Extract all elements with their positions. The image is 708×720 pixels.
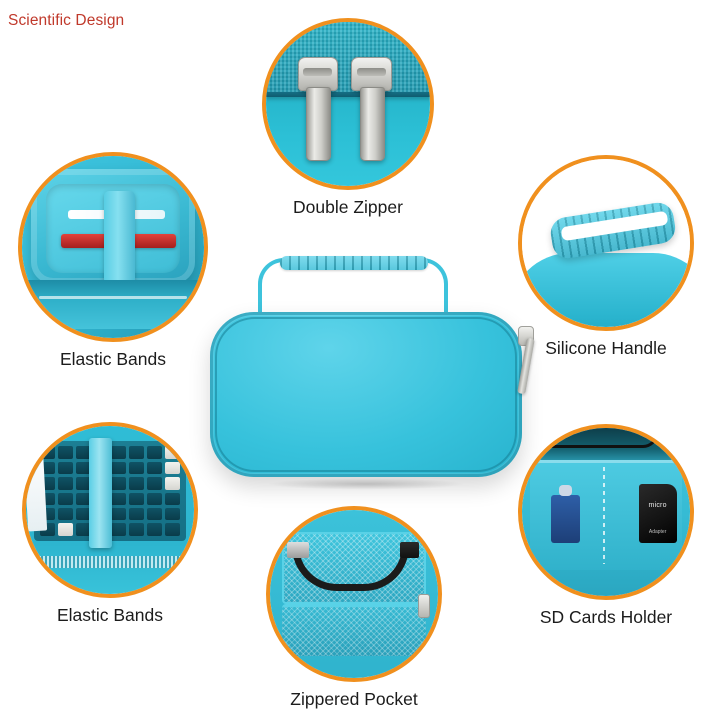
feature-elastic-bands-bottom: Elastic Bands: [22, 422, 198, 626]
feature-circle-silicone-handle: [518, 155, 694, 331]
sd-card-brand: micro: [639, 502, 677, 509]
silicone-handle-grip: [280, 256, 428, 270]
feature-circle-double-zipper: [262, 18, 434, 190]
feature-label-silicone-handle: Silicone Handle: [518, 338, 694, 359]
case-body: [210, 312, 522, 477]
feature-label-sd-cards-holder: SD Cards Holder: [518, 607, 694, 628]
feature-label-elastic-bands-bottom: Elastic Bands: [22, 605, 198, 626]
photo-pencils-in-lid: [20, 154, 206, 340]
feature-double-zipper: Double Zipper: [262, 18, 434, 218]
feature-circle-elastic-bands-top: [18, 152, 208, 342]
photo-silicone-handle: [520, 157, 692, 329]
photo-mesh-pocket-with-usb-cable: [268, 508, 440, 680]
photo-usb-c-adapter-and-microsd-card: micro Adapter: [520, 426, 692, 598]
feature-label-elastic-bands-top: Elastic Bands: [18, 349, 208, 370]
usb-c-adapter-icon: [551, 495, 580, 543]
page-title: Scientific Design: [8, 12, 124, 30]
feature-sd-cards-holder: micro Adapter SD Cards Holder: [518, 424, 694, 628]
photo-calculator-with-strap: [24, 424, 196, 596]
feature-circle-zippered-pocket: [266, 506, 442, 682]
photo-double-zipper: [264, 20, 432, 188]
feature-elastic-bands-top: Elastic Bands: [18, 152, 208, 370]
infographic-page: Scientific Design Elastic Bands: [0, 0, 708, 720]
hero-product-image: [196, 252, 536, 502]
sd-card-sub: Adapter: [639, 529, 677, 535]
feature-label-zippered-pocket: Zippered Pocket: [266, 689, 442, 710]
product-shadow: [230, 476, 502, 492]
feature-zippered-pocket: Zippered Pocket: [266, 506, 442, 710]
feature-circle-elastic-bands-bottom: [22, 422, 198, 598]
feature-label-double-zipper: Double Zipper: [262, 197, 434, 218]
feature-circle-sd-cards-holder: micro Adapter: [518, 424, 694, 600]
feature-silicone-handle: Silicone Handle: [518, 155, 694, 359]
microsd-adapter-card: micro Adapter: [639, 484, 677, 542]
